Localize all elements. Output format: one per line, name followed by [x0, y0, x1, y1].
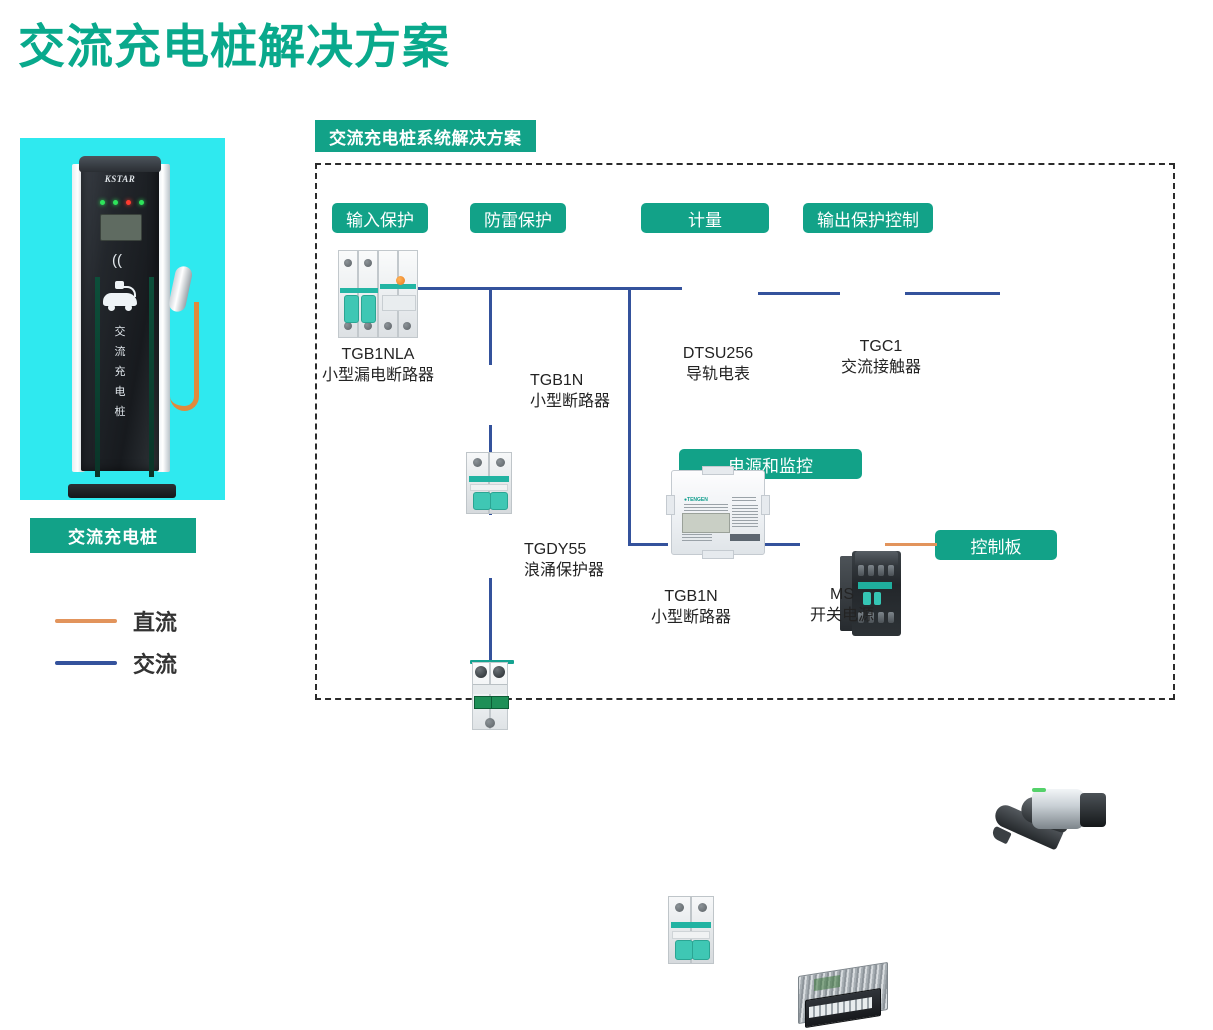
legend-swatch-dc: [55, 619, 117, 623]
component-name-tgb1nla: 小型漏电断路器: [288, 365, 468, 386]
component-name-tgb1n-top: 小型断路器: [530, 391, 690, 412]
wire-ac-branch-mcb-top: [489, 287, 492, 365]
component-image-tgdy55: [472, 662, 508, 730]
product-caption: 交流充电桩: [30, 518, 196, 553]
component-name-dtsu256: 导轨电表: [661, 364, 775, 385]
pile-cabinet: [81, 159, 159, 471]
component-model-ms: MS: [790, 584, 894, 605]
section-title: 交流充电桩系统解决方案: [315, 120, 536, 152]
component-model-tgb1n-top: TGB1N: [530, 370, 650, 391]
rfid-wave-icon: ((: [112, 252, 126, 269]
wire-dc-smps-to-control-board: [885, 543, 937, 546]
group-chip-metering[interactable]: 计量: [641, 203, 769, 233]
pile-gun-holster: [168, 266, 208, 426]
component-model-dtsu256: DTSU256: [661, 343, 775, 364]
component-image-tgb1n-top: [466, 452, 512, 514]
component-name-tgdy55: 浪涌保护器: [524, 560, 684, 581]
group-chip-input-protection[interactable]: 输入保护: [332, 203, 428, 233]
component-image-tgb1n-aux: [668, 896, 714, 964]
group-chip-control-board[interactable]: 控制板: [935, 530, 1057, 560]
component-name-ms: 开关电源: [782, 605, 902, 626]
pile-stripe-right: [149, 277, 154, 477]
page-title: 交流充电桩解决方案: [18, 20, 450, 74]
pile-brand-label: KSTAR: [72, 174, 168, 184]
component-model-tgb1n-aux: TGB1N: [634, 586, 748, 607]
ev-charging-icon: [101, 282, 141, 308]
component-image-dtsu256: ●TENGEN: [671, 470, 765, 555]
charging-gun-connector: [996, 777, 1106, 853]
wire-ac-spd-to-ground: [489, 578, 492, 666]
status-led-3: [126, 200, 131, 205]
product-photo: KSTAR (( 交流充电桩: [20, 138, 225, 500]
group-chip-output-protection-control[interactable]: 输出保护控制: [803, 203, 933, 233]
component-model-tgc1: TGC1: [828, 336, 934, 357]
component-name-tgb1n-aux: 小型断路器: [624, 607, 758, 628]
legend-label-dc: 直流: [133, 605, 177, 637]
component-model-tgb1nla: TGB1NLA: [318, 344, 438, 365]
legend-item-dc: 直流: [55, 600, 255, 642]
component-image-ms-power-supply: [798, 964, 886, 1030]
legend-label-ac: 交流: [133, 647, 177, 679]
legend-swatch-ac: [55, 661, 117, 665]
group-chip-lightning-protection[interactable]: 防雷保护: [470, 203, 566, 233]
pile-top-cap: [79, 156, 161, 172]
component-name-tgc1: 交流接触器: [818, 357, 944, 378]
pile-vertical-text: 交流充电桩: [110, 322, 130, 422]
pile-stripe-left: [95, 277, 100, 477]
legend-item-ac: 交流: [55, 642, 255, 684]
status-led-1: [100, 200, 105, 205]
status-led-2: [113, 200, 118, 205]
component-image-tgb1nla: [338, 250, 418, 338]
component-model-tgdy55: TGDY55: [524, 539, 644, 560]
pile-base: [68, 484, 176, 498]
pile-display-screen: [100, 214, 142, 241]
wire-ac-main-bus: [412, 287, 682, 290]
wire-ac-meter-to-contactor: [758, 292, 840, 295]
wire-ac-contactor-to-gun: [905, 292, 1000, 295]
wire-ac-branch-aux-vertical: [628, 287, 631, 545]
legend: 直流 交流: [55, 600, 255, 684]
charging-pile-illustration: KSTAR (( 交流充电桩: [72, 154, 170, 474]
status-led-4: [139, 200, 144, 205]
